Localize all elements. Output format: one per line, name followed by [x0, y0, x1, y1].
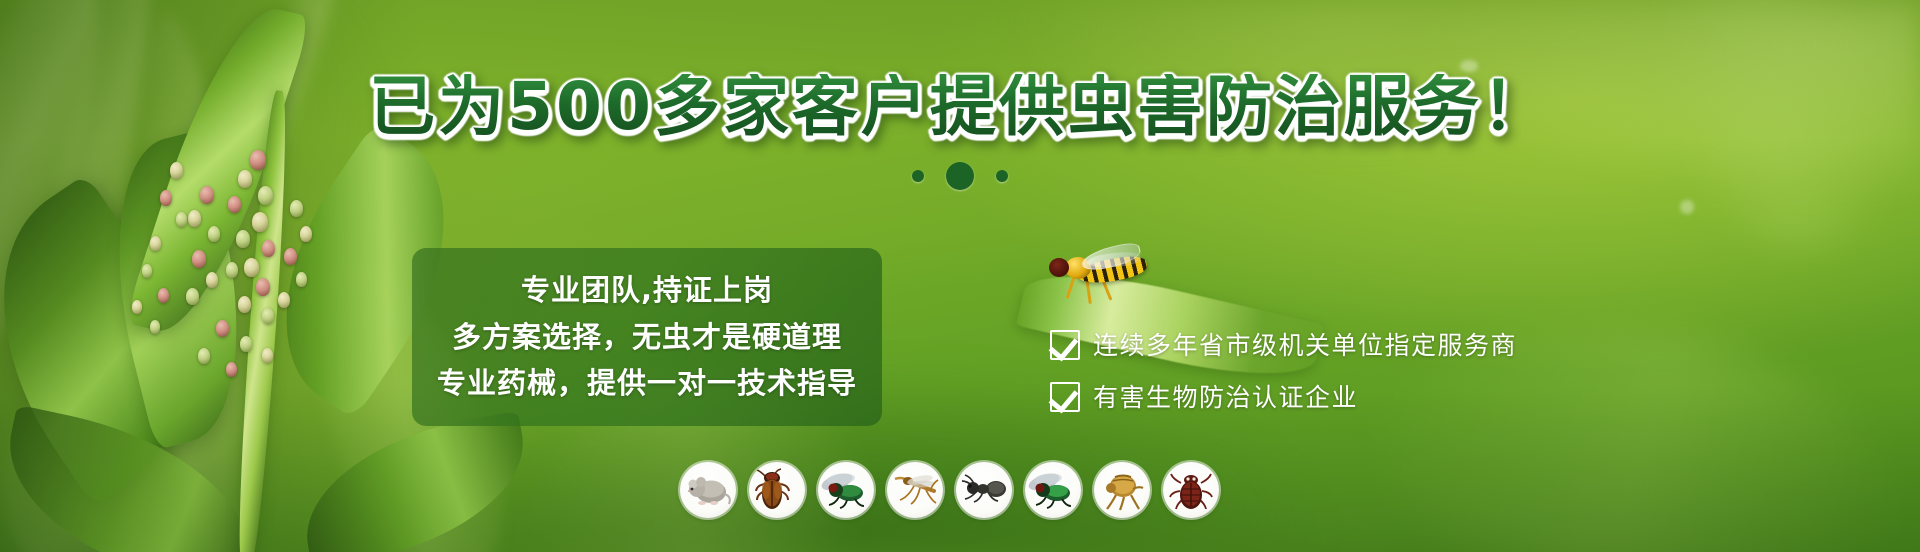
insect-head [1049, 258, 1069, 277]
credential-item: 有害生物防治认证企业 [1050, 382, 1517, 412]
ant-icon[interactable] [956, 462, 1012, 518]
plant-bud [296, 272, 307, 287]
plant-bud [186, 288, 199, 305]
plant-bud [198, 348, 210, 364]
hoverfly-illustration [1043, 245, 1163, 307]
credential-label: 有害生物防治认证企业 [1093, 385, 1358, 410]
plant-bud [278, 292, 290, 308]
insect-leg [1066, 277, 1076, 299]
plant-bud [192, 250, 206, 268]
plant-bud [262, 308, 274, 324]
plant-bud [150, 320, 160, 334]
selling-point-line-2: 多方案选择，无虫才是硬道理 [422, 322, 872, 352]
mosquito-icon[interactable] [887, 462, 943, 518]
plant-bud [142, 264, 152, 278]
plant-bud [188, 210, 201, 227]
plant-bud [236, 230, 250, 248]
plant-bud [150, 236, 161, 251]
plant-bud [226, 362, 237, 377]
checkbox-checked-icon [1050, 330, 1080, 360]
selling-points-box: 专业团队,持证上岗 多方案选择，无虫才是硬道理 专业药械，提供一对一技术指导 [412, 248, 882, 426]
plant-bud [176, 212, 187, 227]
light-speck [1680, 200, 1694, 214]
plant-bud [158, 288, 169, 303]
plant-leaf [291, 411, 538, 552]
plant-bud [132, 300, 142, 314]
selling-point-line-1: 专业团队,持证上岗 [422, 275, 872, 305]
dot-small-left [912, 170, 924, 182]
plant-bud [262, 348, 273, 363]
plant-bud [238, 296, 251, 313]
cockroach-icon[interactable] [749, 462, 805, 518]
flea-icon[interactable] [1094, 462, 1150, 518]
plant-bud [262, 240, 275, 257]
plant-bud [160, 190, 172, 206]
mouse-icon[interactable] [680, 462, 736, 518]
banner-headline-text: 已为500多家客户提供虫害防治服务！ [369, 74, 1551, 140]
credential-item: 连续多年省市级机关单位指定服务商 [1050, 330, 1517, 360]
selling-point-line-3: 专业药械，提供一对一技术指导 [422, 368, 872, 398]
plant-bud [206, 272, 218, 288]
fly-icon[interactable] [818, 462, 874, 518]
credential-label: 连续多年省市级机关单位指定服务商 [1093, 333, 1517, 358]
plant-bud [216, 320, 229, 337]
plant-bud [228, 196, 241, 213]
banner-headline: 已为500多家客户提供虫害防治服务！ [0, 74, 1920, 140]
plant-bud [284, 248, 297, 265]
checkbox-checked-icon [1050, 382, 1080, 412]
plant-bud [252, 212, 268, 232]
plant-bud [256, 278, 270, 296]
dot-small-right [996, 170, 1008, 182]
decorative-dot-row [0, 162, 1920, 190]
plant-bud [244, 258, 259, 277]
bedbug-icon[interactable] [1163, 462, 1219, 518]
plant-bud [240, 336, 252, 352]
promo-banner: 已为500多家客户提供虫害防治服务！ 专业团队,持证上岗 多方案选择，无虫才是硬… [0, 0, 1920, 552]
pest-icon-row [680, 462, 1219, 518]
credentials-checklist: 连续多年省市级机关单位指定服务商 有害生物防治认证企业 [1050, 330, 1517, 434]
dot-large-center [946, 162, 974, 190]
plant-bud [208, 226, 220, 242]
plant-bud [226, 262, 238, 278]
plant-bud [290, 200, 303, 217]
plant-bud [300, 226, 312, 242]
blowfly-icon[interactable] [1025, 462, 1081, 518]
